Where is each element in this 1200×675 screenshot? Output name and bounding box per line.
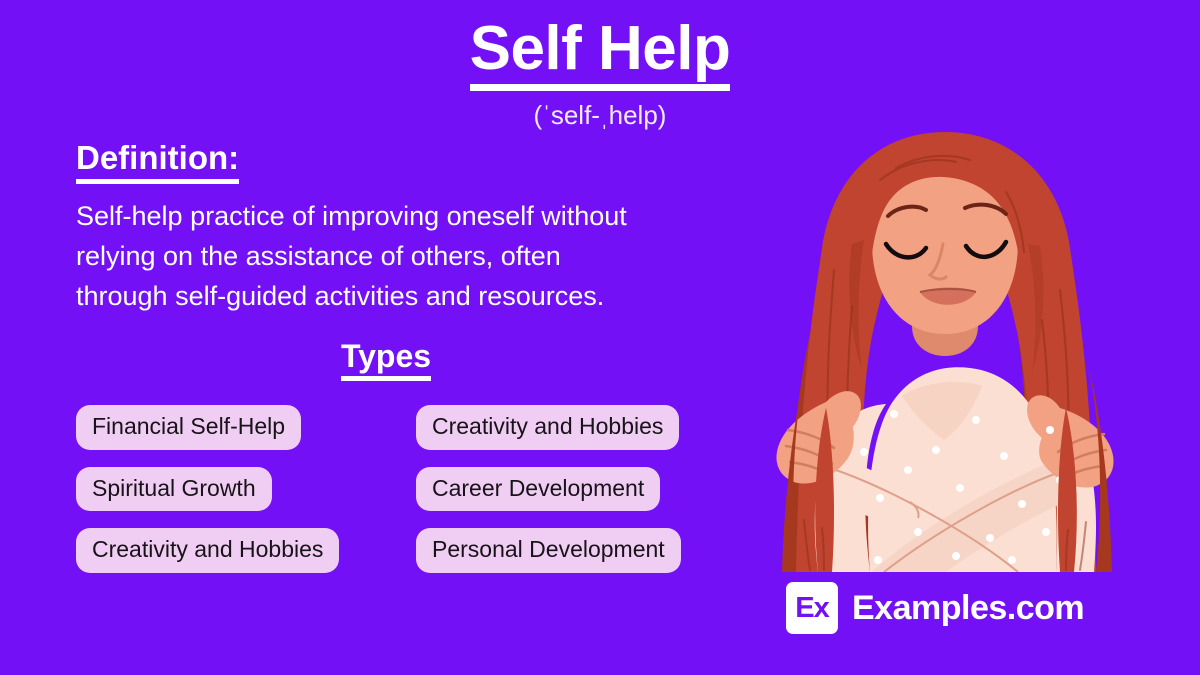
types-list: Financial Self-Help Creativity and Hobbi… bbox=[76, 405, 696, 572]
types-heading: Types bbox=[341, 338, 431, 381]
definition-heading: Definition: bbox=[76, 138, 239, 184]
logo-mark-icon: Ex bbox=[786, 582, 838, 634]
logo-text: Examples.com bbox=[852, 589, 1084, 628]
page-title: Self Help bbox=[0, 16, 1200, 91]
type-pill-spiritual-growth[interactable]: Spiritual Growth bbox=[76, 467, 272, 511]
type-pill-creativity-and-hobbies[interactable]: Creativity and Hobbies bbox=[416, 405, 679, 449]
list-item: Financial Self-Help bbox=[76, 405, 416, 449]
list-item: Creativity and Hobbies bbox=[416, 405, 716, 449]
definition-body: Self-help practice of improving oneself … bbox=[76, 197, 656, 317]
list-item: Spiritual Growth bbox=[76, 467, 416, 511]
definition-section: Definition: Self-help practice of improv… bbox=[76, 138, 696, 316]
list-item: Personal Development bbox=[416, 528, 716, 572]
brand-logo[interactable]: Ex Examples.com bbox=[786, 582, 1084, 634]
content-column: Definition: Self-help practice of improv… bbox=[76, 138, 696, 573]
type-pill-creativity-and-hobbies-2[interactable]: Creativity and Hobbies bbox=[76, 528, 339, 572]
types-heading-wrap: Types bbox=[76, 338, 696, 381]
type-pill-personal-development[interactable]: Personal Development bbox=[416, 528, 681, 572]
type-pill-career-development[interactable]: Career Development bbox=[416, 467, 660, 511]
type-pill-financial-self-help[interactable]: Financial Self-Help bbox=[76, 405, 301, 449]
page-title-text: Self Help bbox=[470, 16, 731, 91]
list-item: Creativity and Hobbies bbox=[76, 528, 416, 572]
self-hug-illustration bbox=[760, 120, 1130, 572]
infographic-card: Self Help (ˈself-ˌhelp) Definition: Self… bbox=[0, 0, 1200, 675]
list-item: Career Development bbox=[416, 467, 716, 511]
